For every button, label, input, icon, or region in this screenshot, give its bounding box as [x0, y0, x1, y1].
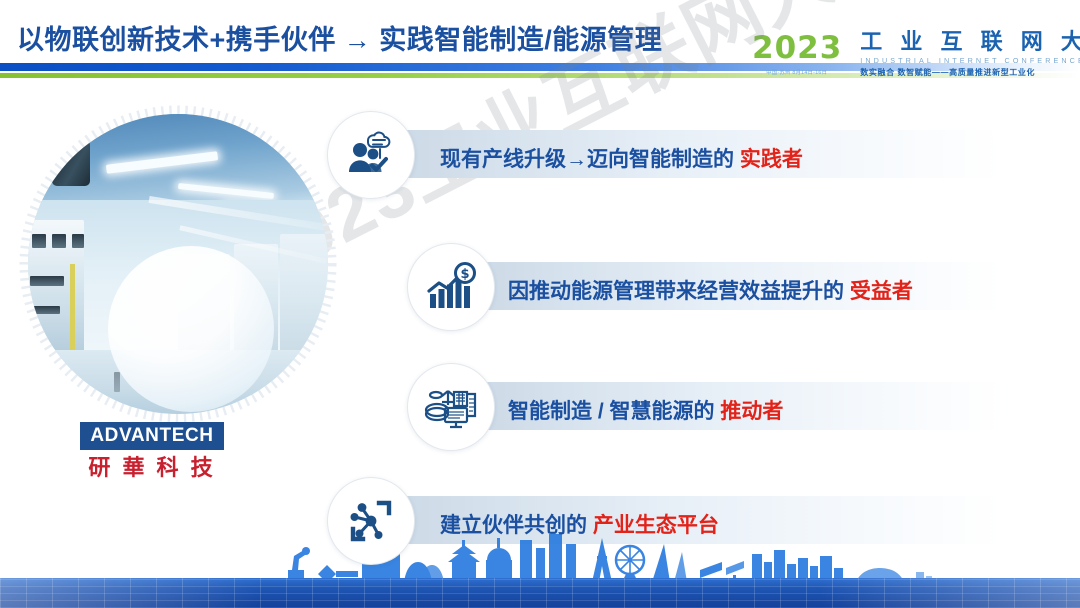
row-2-main: 因推动能源管理带来经营效益提升的 [508, 280, 850, 303]
row-icon-2: $ [407, 243, 495, 331]
advantech-logo-cn: 研 華 科 技 [80, 450, 224, 482]
row-icon-1 [327, 111, 415, 199]
page-title: 以物联创新技术+携手伙伴 → 实践智能制造/能源管理 [17, 18, 662, 57]
conference-year-block: 2023 中国·苏州 8月14日-16日 [752, 33, 842, 76]
row-icon-4 [327, 477, 415, 565]
advantech-logo-text: ADVANTECH [90, 425, 213, 447]
footer-grid-band [0, 578, 1080, 608]
conference-slogan: 数实融合 数智赋能——高质量推进新型工业化 [860, 67, 1080, 78]
row-3-highlight: 推动者 [720, 400, 783, 423]
network-hub-icon [345, 495, 397, 547]
conference-name-en: INDUSTRIAL INTERNET CONFERENCE [860, 56, 1080, 65]
row-4-highlight: 产业生态平台 [593, 514, 719, 537]
row-4-main: 建立伙伴共创的 [440, 514, 593, 537]
photo-panel: ADVANTECH 研 華 科 技 [18, 104, 338, 544]
footer-grid-fade-left [0, 578, 260, 608]
slide: 以物联创新技术+携手伙伴 → 实践智能制造/能源管理 2023 中国·苏州 8月… [0, 0, 1080, 608]
smart-energy-monitor-icon [424, 382, 478, 432]
factory-cleanroom-photo [28, 114, 328, 414]
row-text-2: 因推动能源管理带来经营效益提升的 受益者 [508, 275, 913, 305]
conference-year: 2023 [752, 33, 842, 64]
row-2-highlight: 受益者 [850, 280, 913, 303]
row-1-highlight: 实践者 [740, 148, 803, 171]
people-idea-check-icon [344, 128, 398, 182]
row-text-1: 现有产线升级→迈向智能制造的 实践者 [440, 143, 803, 173]
row-3-main: 智能制造 / 智慧能源的 [508, 400, 720, 423]
row-text-4: 建立伙伴共创的 产业生态平台 [440, 509, 719, 539]
svg-text:$: $ [460, 267, 469, 282]
conference-logo: 2023 中国·苏州 8月14日-16日 工 业 互 联 网 大 会 INDUS… [752, 26, 1074, 82]
row-icon-3 [407, 363, 495, 451]
growth-chart-dollar-icon: $ [425, 261, 477, 313]
conference-venue-date: 中国·苏州 8月14日-16日 [767, 68, 828, 76]
advantech-logo-box: ADVANTECH [80, 422, 224, 450]
row-1-main: 现有产线升级→迈向智能制造的 [440, 148, 740, 171]
row-text-3: 智能制造 / 智慧能源的 推动者 [508, 395, 783, 425]
conference-name-block: 工 业 互 联 网 大 会 INDUSTRIAL INTERNET CONFER… [860, 30, 1080, 77]
slide-header: 以物联创新技术+携手伙伴 → 实践智能制造/能源管理 2023 中国·苏州 8月… [0, 0, 1080, 96]
conference-name-cn: 工 业 互 联 网 大 会 [860, 30, 1080, 53]
footer-grid-fade-right [820, 578, 1080, 608]
